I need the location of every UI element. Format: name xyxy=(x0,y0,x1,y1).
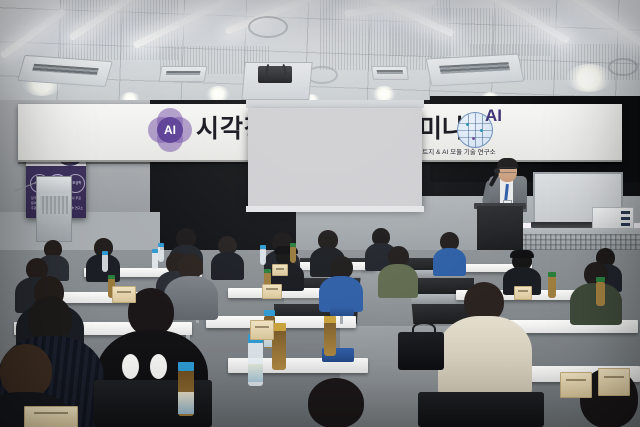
gift-box xyxy=(272,264,288,276)
bottle-cap xyxy=(264,269,271,273)
screen-bottom-bar xyxy=(246,206,424,212)
ac-cassette xyxy=(371,66,409,80)
gift-box xyxy=(24,406,78,427)
bottle-cap xyxy=(108,275,115,279)
bottle-cap xyxy=(178,362,194,371)
gift-box xyxy=(112,286,136,303)
gift-box xyxy=(250,320,274,340)
ai-logo-label: AI xyxy=(157,117,183,143)
seminar-photo-scene: 2026 시각장애인을 위한 AI 보조공학 세미나 기술 체험 특강 AI 음… xyxy=(0,0,640,427)
chair-seat xyxy=(330,306,354,316)
gift-box xyxy=(262,284,282,299)
drink-bottle xyxy=(102,254,108,272)
jacket-eye-graphic-icon xyxy=(150,354,167,379)
jacket-eye-graphic-icon xyxy=(122,354,139,379)
ai-flower-logo-icon: AI xyxy=(148,108,192,152)
bottle-cap xyxy=(324,316,336,323)
ceiling xyxy=(0,0,640,108)
tea-bottle xyxy=(272,330,286,370)
bottle-cap xyxy=(260,245,266,249)
juice-bottle xyxy=(548,276,556,298)
cap-icon xyxy=(510,250,534,258)
chair xyxy=(94,380,212,427)
chair xyxy=(418,392,544,427)
handbag xyxy=(398,332,444,370)
ceiling-vent-ring xyxy=(608,58,638,76)
bottle-label xyxy=(178,392,194,414)
bottle-cap xyxy=(264,310,275,316)
juice-bottle xyxy=(596,282,605,306)
bottle-cap xyxy=(102,251,108,255)
ai-globe-logo-icon: AI xyxy=(455,104,511,150)
ai-globe-label: AI xyxy=(485,106,502,126)
ceiling-vent-ring xyxy=(248,16,288,38)
juice-bottle xyxy=(290,246,296,263)
av-control-unit xyxy=(592,207,634,229)
gift-box xyxy=(560,372,592,398)
gift-box xyxy=(514,286,532,300)
projection-screen: AI 2026 시각장애인을 위한 AI 보조공학 세미나 기술 체험 특강 일… xyxy=(248,108,422,208)
floor-speaker-unit xyxy=(36,176,72,242)
glasses-icon xyxy=(499,167,516,173)
tea-bottle xyxy=(324,322,336,356)
bottle-cap xyxy=(548,272,556,277)
bottle-label xyxy=(248,364,263,382)
bottle-cap xyxy=(596,277,605,282)
ac-cassette xyxy=(159,66,208,82)
screen-housing xyxy=(246,100,424,108)
bottle-cap xyxy=(158,243,164,247)
microphone-head-icon xyxy=(494,168,500,174)
handbag-handle xyxy=(412,322,436,336)
ceiling-downlight xyxy=(566,64,612,92)
bottle-cap xyxy=(290,243,296,247)
drink-bottle xyxy=(158,246,164,262)
ac-cassette xyxy=(426,54,525,87)
gift-box xyxy=(598,368,630,396)
bottle-cap xyxy=(272,323,286,331)
drink-bottle xyxy=(260,248,266,265)
